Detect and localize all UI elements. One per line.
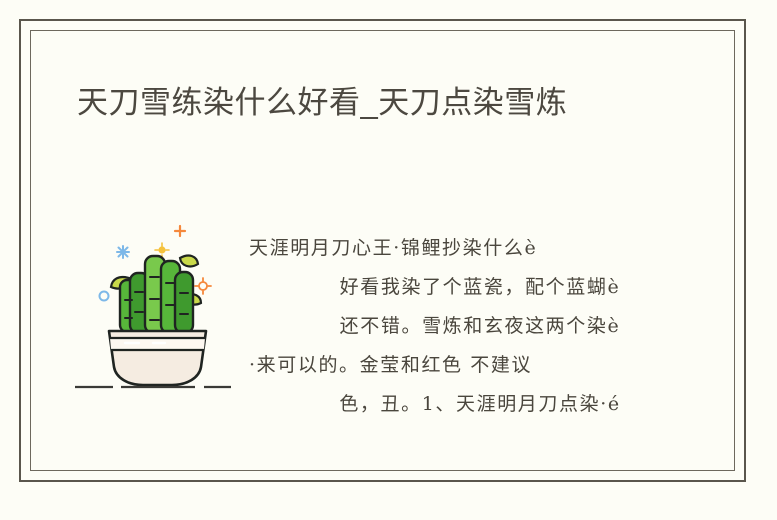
body-line-5: 色，丑。1、天涯明月刀点染·é — [249, 385, 711, 424]
page-title: 天刀雪练染什么好看_天刀点染雪炼 — [77, 79, 677, 127]
illustration-potted-bamboo — [73, 217, 245, 395]
plant-pot — [109, 331, 206, 385]
blue-circle-sparkle — [100, 292, 109, 301]
body-line-3: 还不错。雪炼和玄夜这两个染è — [249, 307, 711, 346]
orange-plus-sparkle — [175, 226, 185, 236]
orange-flower-sparkle — [195, 278, 211, 294]
bamboo-stems — [120, 256, 193, 333]
article-card: 天刀雪练染什么好看_天刀点染雪炼 — [19, 19, 746, 482]
article-body: 天涯明月刀心王·锦鲤抄染什么è 好看我染了个蓝瓷，配个蓝蝴è 还不错。雪炼和玄夜… — [249, 229, 711, 424]
blue-starburst-sparkle — [117, 246, 129, 258]
body-line-4: ·来可以的。金莹和红色 不建议 — [249, 346, 711, 385]
body-line-2: 好看我染了个蓝瓷，配个蓝蝴è — [249, 268, 711, 307]
body-line-1: 天涯明月刀心王·锦鲤抄染什么è — [249, 229, 711, 268]
